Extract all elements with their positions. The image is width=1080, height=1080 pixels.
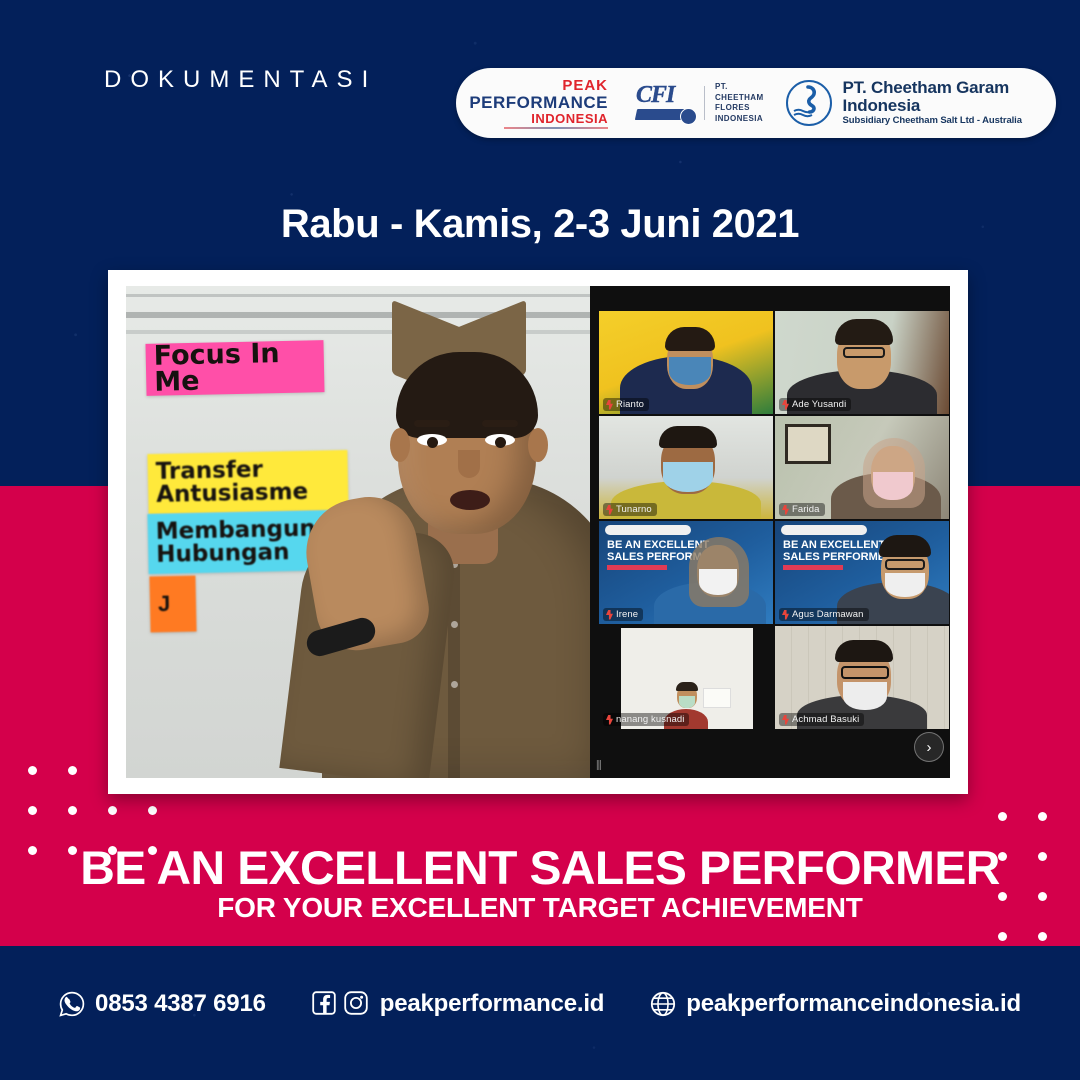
participant-name: Ade Yusandi [792, 399, 846, 410]
resize-handle-icon[interactable]: ⦀ [596, 758, 602, 774]
cfi-word-4: INDONESIA [715, 114, 764, 125]
instagram-icon [344, 991, 370, 1017]
event-date: Rabu - Kamis, 2-3 Juni 2021 [0, 202, 1080, 247]
photo-frame: Focus In Me Transfer Antusiasme Membangu… [108, 270, 968, 794]
participant-name: nanang kusnadi [616, 714, 684, 725]
cfi-mark-icon: CFI [636, 83, 694, 123]
logo-cheetham-garam: PT. Cheetham Garam Indonesia Subsidiary … [786, 79, 1056, 127]
footer-website[interactable]: peakperformanceindonesia.id [650, 990, 1021, 1018]
speaker-figure [286, 308, 590, 778]
participant-name-badge: Farida [779, 503, 825, 516]
logo-pill: PEAK PERFORMANCE INDONESIA CFI PT. CHEET… [456, 68, 1056, 138]
website-url: peakperformanceindonesia.id [686, 990, 1021, 1018]
logo-peak-performance-indonesia: PEAK PERFORMANCE INDONESIA [480, 78, 608, 129]
participant-tile[interactable]: Farida [774, 415, 950, 520]
participant-name-badge: Irene [603, 608, 643, 621]
footer-whatsapp[interactable]: 0853 4387 6916 [59, 990, 266, 1018]
participant-tile[interactable]: Tunarno [598, 415, 774, 520]
participant-name-badge: nanang kusnadi [603, 713, 689, 726]
participant-tile[interactable]: Ade Yusandi [774, 310, 950, 415]
participant-name-badge: Achmad Basuki [779, 713, 864, 726]
photo-content: Focus In Me Transfer Antusiasme Membangu… [126, 286, 950, 778]
headline-secondary: FOR YOUR EXCELLENT TARGET ACHIEVEMENT [0, 892, 1080, 924]
mic-muted-icon [782, 715, 789, 725]
participant-name: Rianto [616, 399, 644, 410]
video-call-grid: Rianto Ade Yusandi [590, 286, 950, 778]
cfi-word-3: FLORES [715, 103, 764, 114]
participant-name-badge: Tunarno [603, 503, 657, 516]
participant-name: Tunarno [616, 504, 652, 515]
globe-icon [650, 991, 676, 1017]
speaker-mouth [450, 490, 490, 510]
cfi-globe-icon [680, 108, 697, 125]
cgi-subtitle: Subsidiary Cheetham Salt Ltd - Australia [843, 115, 1056, 127]
logo-peak-line1: PEAK [562, 78, 608, 93]
cfi-word-1: PT. [715, 82, 764, 93]
speaker-photo: Focus In Me Transfer Antusiasme Membangu… [126, 286, 590, 778]
mic-muted-icon [782, 610, 789, 620]
seahorse-emblem-icon [786, 80, 832, 126]
mic-muted-icon [606, 715, 613, 725]
cfi-word-2: CHEETHAM [715, 93, 764, 104]
participant-name: Achmad Basuki [792, 714, 859, 725]
virtual-background-title: BE AN EXCELLENT SALES PERFORMER [783, 539, 893, 563]
participant-name: Farida [792, 504, 820, 515]
participant-tiles: Rianto Ade Yusandi [598, 310, 950, 730]
next-page-button[interactable]: › [914, 732, 944, 762]
participant-tile[interactable]: nanang kusnadi [598, 625, 774, 730]
speaker-nose [458, 450, 480, 478]
participant-tile[interactable]: Rianto [598, 310, 774, 415]
poster-canvas: DOKUMENTASI PEAK PERFORMANCE INDONESIA C… [0, 0, 1080, 1080]
mic-muted-icon [782, 505, 789, 515]
logo-cfi: CFI PT. CHEETHAM FLORES INDONESIA [636, 82, 764, 124]
footer-contact-bar: 0853 4387 6916 peakperfo [0, 990, 1080, 1018]
participant-name-badge: Rianto [603, 398, 649, 411]
mic-muted-icon [782, 400, 789, 410]
cgi-title: PT. Cheetham Garam Indonesia [843, 79, 1056, 115]
mic-muted-icon [606, 610, 613, 620]
whatsapp-number: 0853 4387 6916 [95, 990, 266, 1018]
kicker-label: DOKUMENTASI [104, 66, 377, 94]
cfi-wordmark: CFI [636, 83, 694, 107]
participant-tile[interactable]: BE AN EXCELLENT SALES PERFORMER Irene [598, 520, 774, 625]
participant-name: Agus Darmawan [792, 609, 864, 620]
participant-tile[interactable]: Achmad Basuki [774, 625, 950, 730]
social-handle: peakperformance.id [380, 990, 604, 1018]
facebook-instagram-icon [312, 991, 370, 1017]
cgi-words: PT. Cheetham Garam Indonesia Subsidiary … [843, 79, 1056, 127]
participant-name-badge: Agus Darmawan [779, 608, 869, 621]
cfi-company-words: PT. CHEETHAM FLORES INDONESIA [715, 82, 764, 124]
logo-peak-line2: PERFORMANCE [469, 94, 608, 111]
logo-peak-line3: INDONESIA [531, 112, 608, 125]
cfi-divider [704, 86, 705, 120]
sticky-note-partial: J [149, 576, 196, 633]
logo-peak-underline [504, 127, 608, 129]
facebook-icon [312, 991, 338, 1017]
mic-muted-icon [606, 400, 613, 410]
footer-social[interactable]: peakperformance.id [312, 990, 604, 1018]
participant-tile[interactable]: BE AN EXCELLENT SALES PERFORMER Agus Dar… [774, 520, 950, 625]
mic-muted-icon [606, 505, 613, 515]
participant-name: Irene [616, 609, 638, 620]
whatsapp-icon [59, 991, 85, 1017]
participant-name-badge: Ade Yusandi [779, 398, 851, 411]
headline-primary: BE AN EXCELLENT SALES PERFORMER [0, 840, 1080, 895]
